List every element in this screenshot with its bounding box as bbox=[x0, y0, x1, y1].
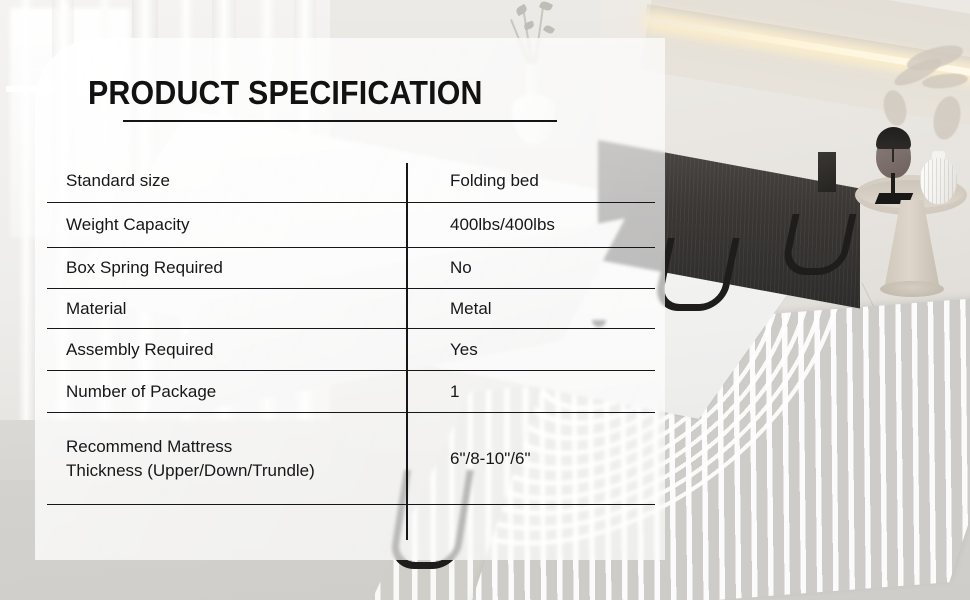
spec-value: 1 bbox=[450, 379, 459, 403]
spec-value: Folding bed bbox=[450, 169, 539, 193]
spec-label: Material bbox=[66, 296, 126, 320]
spec-label: Assembly Required bbox=[66, 337, 213, 361]
table-row: Assembly RequiredYes bbox=[47, 329, 655, 371]
table-row: Box Spring RequiredNo bbox=[47, 248, 655, 289]
curtain-fold bbox=[18, 0, 34, 420]
screenshot-root: PRODUCT SPECIFICATION Standard sizeFoldi… bbox=[0, 0, 970, 600]
spec-value: 400lbs/400lbs bbox=[450, 213, 555, 237]
table-row: Weight Capacity400lbs/400lbs bbox=[47, 203, 655, 248]
table-row: Recommend Mattress Thickness (Upper/Down… bbox=[47, 413, 655, 505]
table-row: Number of Package1 bbox=[47, 371, 655, 413]
spec-label: Weight Capacity bbox=[66, 213, 189, 237]
spec-label: Box Spring Required bbox=[66, 256, 223, 280]
ribbed-vase bbox=[920, 158, 957, 204]
spec-label: Recommend Mattress Thickness (Upper/Down… bbox=[66, 434, 315, 482]
spec-value: 6"/8-10"/6" bbox=[450, 446, 530, 470]
face-sculpture-nose bbox=[892, 140, 894, 162]
wall-frame bbox=[818, 152, 836, 192]
spec-value: Yes bbox=[450, 337, 478, 361]
spec-table: Standard sizeFolding bedWeight Capacity4… bbox=[47, 160, 655, 505]
face-sculpture-rod bbox=[891, 173, 895, 195]
round-side-table-foot bbox=[880, 281, 944, 297]
table-row: MaterialMetal bbox=[47, 289, 655, 329]
title-underline bbox=[123, 120, 557, 122]
spec-label: Standard size bbox=[66, 169, 170, 193]
page-title: PRODUCT SPECIFICATION bbox=[88, 74, 585, 112]
table-row: Standard sizeFolding bed bbox=[47, 160, 655, 203]
spec-value: Metal bbox=[450, 296, 492, 320]
spec-label: Number of Package bbox=[66, 379, 216, 403]
spec-value: No bbox=[450, 256, 472, 280]
